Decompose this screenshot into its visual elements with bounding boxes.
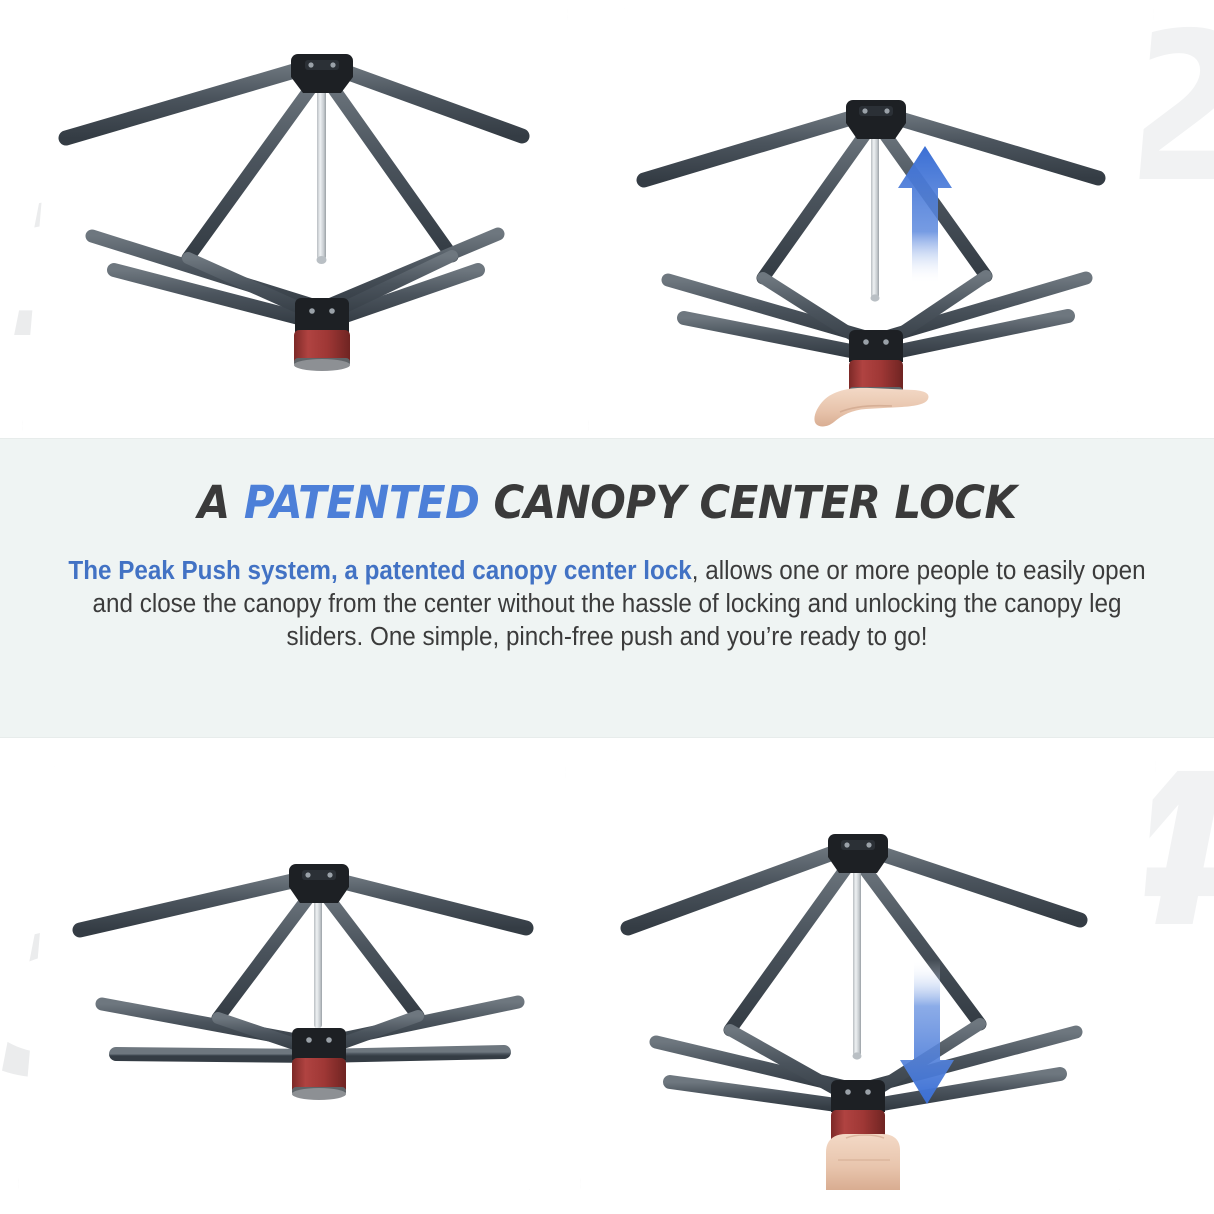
canopy-hub-icon	[291, 54, 353, 93]
step-card-3[interactable]	[18, 766, 566, 1190]
hand-icon	[826, 1134, 900, 1190]
step-photo-1	[22, 8, 568, 432]
center-lock-icon	[849, 330, 903, 396]
canopy-hub-icon	[828, 834, 888, 873]
canopy-frame-illustration-4	[580, 760, 1156, 1190]
step-photo-3	[18, 766, 566, 1190]
feature-description: The Peak Push system, a patented canopy …	[66, 555, 1149, 654]
headline-part-1: A	[198, 476, 244, 529]
hand-icon	[814, 388, 928, 427]
step-card-1[interactable]	[22, 8, 568, 432]
step-photo-2	[588, 8, 1154, 432]
canopy-hub-icon	[846, 100, 906, 139]
feature-text-band: A PATENTED CANOPY CENTER LOCK The Peak P…	[0, 438, 1214, 738]
infographic-page: 1 2	[0, 0, 1214, 1214]
step-card-4[interactable]	[580, 760, 1156, 1190]
steps-row-bottom: 3 4	[0, 738, 1214, 1214]
center-lock-icon	[292, 1028, 346, 1100]
headline-accent-word: PATENTED	[244, 476, 480, 529]
canopy-frame-illustration-2	[588, 8, 1154, 432]
band-top-rule	[0, 438, 1214, 439]
center-lock-icon	[294, 298, 350, 371]
step-photo-4	[580, 760, 1156, 1190]
canopy-frame-illustration-3	[18, 766, 566, 1190]
step-card-2[interactable]	[588, 8, 1154, 432]
headline-part-2: CANOPY CENTER LOCK	[479, 476, 1016, 529]
paragraph-accent-lead: The Peak Push system, a patented canopy …	[68, 557, 691, 585]
steps-row-top: 1 2	[0, 0, 1214, 438]
page-title: A PATENTED CANOPY CENTER LOCK	[198, 476, 1017, 529]
canopy-frame-illustration-1	[22, 8, 568, 432]
canopy-hub-icon	[289, 864, 349, 903]
